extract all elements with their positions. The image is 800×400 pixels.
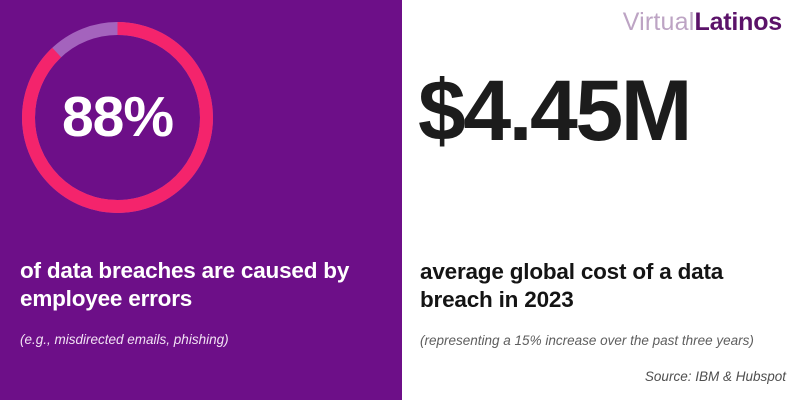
donut-center-value: 88% — [21, 21, 214, 214]
infographic-canvas: 88% of data breaches are caused by emplo… — [0, 0, 800, 400]
right-headline: average global cost of a data breach in … — [420, 258, 790, 315]
left-subnote: (e.g., misdirected emails, phishing) — [20, 331, 390, 349]
right-stat-panel: VirtualLatinos $4.45M average global cos… — [402, 0, 800, 400]
logo-word-virtual: Virtual — [623, 8, 695, 36]
headline-figure: $4.45M — [418, 68, 788, 154]
right-subnote: (representing a 15% increase over the pa… — [420, 332, 795, 350]
source-attribution: Source: IBM & Hubspot — [645, 369, 786, 384]
virtual-latinos-logo: VirtualLatinos — [623, 10, 782, 35]
left-headline: of data breaches are caused by employee … — [20, 257, 390, 313]
logo-word-latinos: Latinos — [695, 8, 783, 36]
left-stat-panel: 88% of data breaches are caused by emplo… — [0, 0, 402, 400]
donut-chart: 88% — [21, 21, 214, 214]
